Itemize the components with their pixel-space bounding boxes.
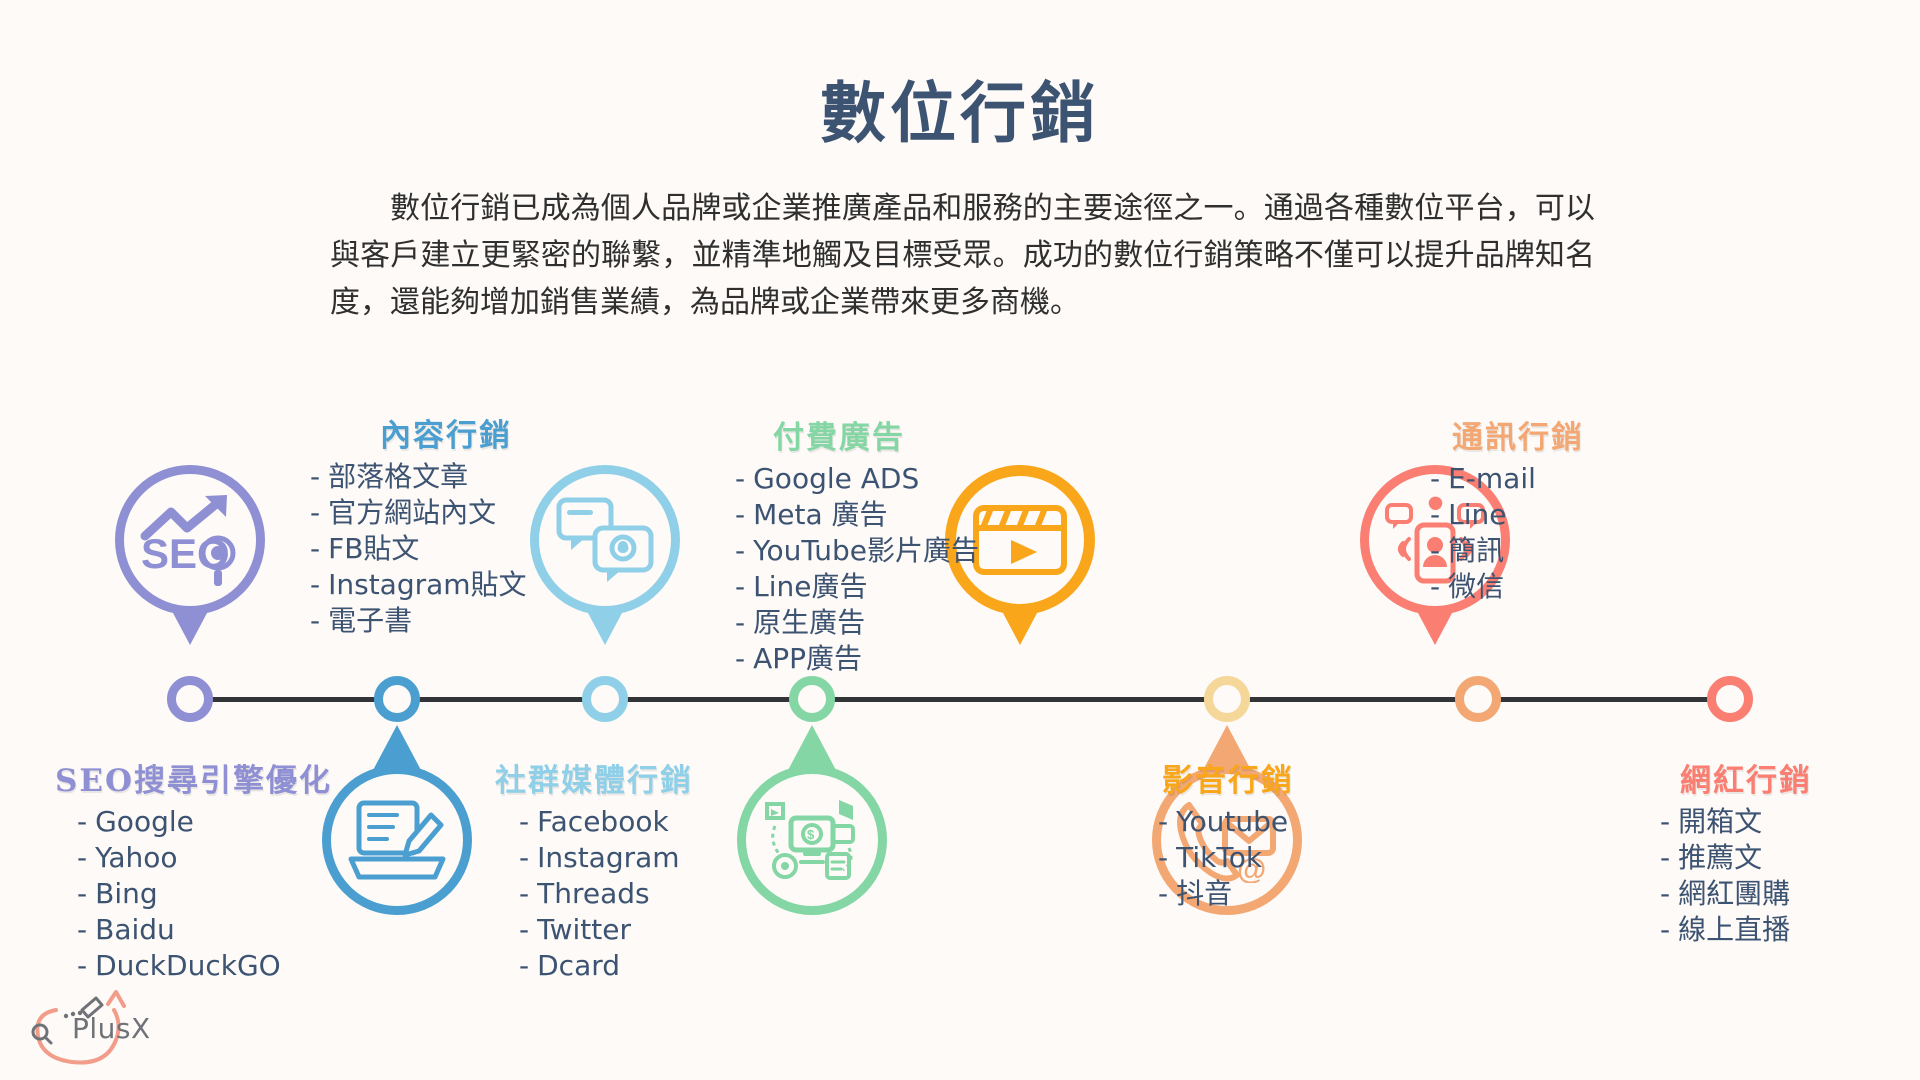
- timeline-node-content[interactable]: [374, 676, 420, 722]
- list-item: -Baidu: [77, 912, 332, 948]
- laptop-pen-icon: [347, 797, 447, 883]
- list-item: -Facebook: [519, 804, 693, 840]
- list-item: -Instagram: [519, 840, 693, 876]
- heading-video: 影音行銷: [1150, 755, 1294, 800]
- list-item: -Twitter: [519, 912, 693, 948]
- list-item: -Line廣告: [735, 569, 979, 605]
- list-item: -E-mail: [1430, 461, 1584, 497]
- list-item: -部落格文章: [310, 459, 527, 495]
- list-item: -電子書: [310, 603, 527, 639]
- list-item: -推薦文: [1660, 840, 1812, 876]
- logo-text: PlusX: [72, 1012, 151, 1045]
- heading-paid: 付費廣告: [735, 412, 979, 457]
- list-item: -Dcard: [519, 948, 693, 984]
- block-messaging: 通訊行銷 -E-mail -Line -簡訊 -微信: [1430, 412, 1584, 605]
- list-item: -Google: [77, 804, 332, 840]
- megaphone-screen-icon: $: [761, 796, 863, 884]
- timeline-axis: [190, 697, 1750, 702]
- heading-messaging: 通訊行銷: [1430, 412, 1584, 457]
- list-item: -Youtube: [1158, 804, 1294, 840]
- list-item: -Google ADS: [735, 461, 979, 497]
- list-item: -Line: [1430, 497, 1584, 533]
- heading-content: 內容行銷: [310, 410, 527, 455]
- list-item: -DuckDuckGO: [77, 948, 332, 984]
- block-content: 內容行銷 -部落格文章 -官方網站內文 -FB貼文 -Instagram貼文 -…: [310, 410, 527, 639]
- timeline-node-messaging[interactable]: [1455, 676, 1501, 722]
- seo-trend-magnifier-icon: SEO: [137, 492, 243, 588]
- block-influencer: 網紅行銷 -開箱文 -推薦文 -網紅團購 -線上直播: [1638, 755, 1812, 948]
- heading-seo: SEO搜尋引擎優化: [55, 755, 332, 800]
- list-item: -Bing: [77, 876, 332, 912]
- list-item: -Threads: [519, 876, 693, 912]
- timeline-node-influencer[interactable]: [1707, 676, 1753, 722]
- list-item: -TikTok: [1158, 840, 1294, 876]
- timeline-node-social[interactable]: [582, 676, 628, 722]
- list-item: -網紅團購: [1660, 876, 1812, 912]
- decor-dots-top-right: [1804, 2, 1894, 47]
- list-item: -Yahoo: [77, 840, 332, 876]
- pin-seo[interactable]: SEO: [115, 465, 265, 655]
- chat-bubbles-icon: [555, 494, 655, 586]
- list-item: -微信: [1430, 569, 1584, 605]
- bubble-content[interactable]: [322, 725, 472, 915]
- list-messaging: -E-mail -Line -簡訊 -微信: [1430, 461, 1584, 605]
- svg-text:$: $: [807, 827, 815, 842]
- list-item: -官方網站內文: [310, 495, 527, 531]
- list-seo: -Google -Yahoo -Bing -Baidu -DuckDuckGO: [55, 804, 332, 984]
- intro-paragraph: 數位行銷已成為個人品牌或企業推廣產品和服務的主要途徑之一。通過各種數位平台，可以…: [330, 185, 1595, 326]
- list-influencer: -開箱文 -推薦文 -網紅團購 -線上直播: [1638, 804, 1812, 948]
- heading-influencer: 網紅行銷: [1638, 755, 1812, 800]
- bubble-paid[interactable]: $: [737, 725, 887, 915]
- block-paid: 付費廣告 -Google ADS -Meta 廣告 -YouTube影片廣告 -…: [735, 412, 979, 677]
- timeline-node-video[interactable]: [1204, 676, 1250, 722]
- list-item: -開箱文: [1660, 804, 1812, 840]
- list-item: -簡訊: [1430, 533, 1584, 569]
- block-social: 社群媒體行銷 -Facebook -Instagram -Threads -Tw…: [495, 755, 693, 984]
- timeline-node-paid[interactable]: [789, 676, 835, 722]
- infographic-canvas: 數位行銷 數位行銷已成為個人品牌或企業推廣產品和服務的主要途徑之一。通過各種數位…: [0, 0, 1920, 1080]
- list-item: -抖音: [1158, 876, 1294, 912]
- pin-social[interactable]: [530, 465, 680, 655]
- list-social: -Facebook -Instagram -Threads -Twitter -…: [495, 804, 693, 984]
- list-video: -Youtube -TikTok -抖音: [1150, 804, 1294, 912]
- page-title: 數位行銷: [0, 60, 1920, 156]
- video-player-icon: [971, 500, 1069, 580]
- list-item: -FB貼文: [310, 531, 527, 567]
- list-content: -部落格文章 -官方網站內文 -FB貼文 -Instagram貼文 -電子書: [310, 459, 527, 639]
- list-item: -APP廣告: [735, 641, 979, 677]
- decor-dots-bottom-center: [865, 1047, 1027, 1074]
- heading-social: 社群媒體行銷: [495, 755, 693, 800]
- block-seo: SEO搜尋引擎優化 -Google -Yahoo -Bing -Baidu -D…: [55, 755, 332, 984]
- timeline-node-seo[interactable]: [167, 676, 213, 722]
- list-item: -YouTube影片廣告: [735, 533, 979, 569]
- decor-dots-top-left: [2, 2, 155, 56]
- block-video: 影音行銷 -Youtube -TikTok -抖音: [1150, 755, 1294, 912]
- list-item: -原生廣告: [735, 605, 979, 641]
- list-item: -線上直播: [1660, 912, 1812, 948]
- list-item: -Meta 廣告: [735, 497, 979, 533]
- list-item: -Instagram貼文: [310, 567, 527, 603]
- list-paid: -Google ADS -Meta 廣告 -YouTube影片廣告 -Line廣…: [735, 461, 979, 677]
- plusx-logo: PlusX: [20, 990, 170, 1070]
